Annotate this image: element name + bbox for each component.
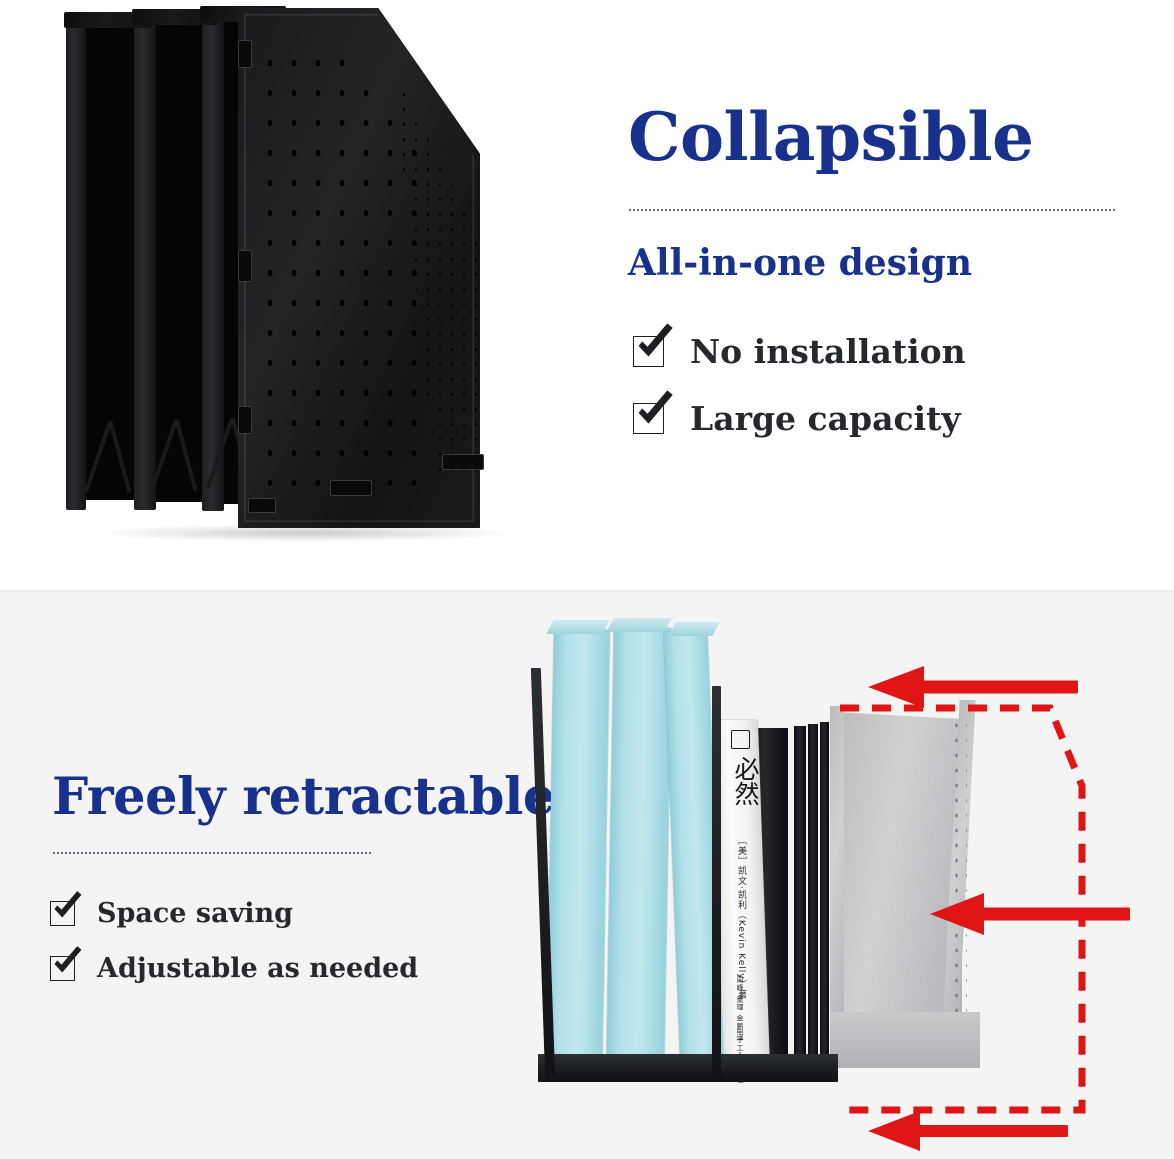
page-title-collapsible: Collapsible [628, 104, 1034, 170]
checkbox-checked-icon [50, 901, 75, 926]
feature-label: Large capacity [690, 402, 961, 435]
panel-collapsible: Collapsible All-in-one design No install… [0, 0, 1174, 592]
checkmark-glyph [633, 327, 677, 365]
hinge-latch-top [238, 40, 252, 68]
folded-panel-2 [134, 14, 156, 510]
checkmark-glyph [50, 894, 85, 924]
folded-panel-1 [66, 18, 86, 510]
feature-item-large-capacity: Large capacity [633, 402, 961, 435]
collapsed-black-magazine-file-photo [62, 2, 582, 550]
checkbox-checked-icon [633, 403, 664, 434]
book-teal-2 [606, 628, 672, 1072]
folded-divider-1 [794, 726, 806, 1074]
title-divider-bottom [52, 852, 372, 854]
book-teal-3-top [668, 622, 719, 636]
retract-arrow-middle [930, 892, 1130, 936]
hinge-latch-middle [238, 250, 252, 282]
base-clip-left [248, 498, 276, 513]
feature-label: Adjustable as needed [97, 955, 418, 982]
checkmark-glyph [50, 949, 85, 979]
hinge-latch-lower [238, 406, 252, 434]
retract-arrow-bottom [868, 1110, 1068, 1152]
feature-item-space-saving: Space saving [50, 900, 293, 927]
book-teal-1-top [546, 620, 609, 634]
folded-panel-3 [202, 11, 224, 511]
base-clip-right [442, 454, 484, 470]
book-teal-1 [546, 630, 610, 1070]
subtitle-all-in-one: All-in-one design [628, 245, 972, 281]
publisher-mark-icon [731, 730, 750, 749]
title-divider-top [628, 209, 1115, 211]
retract-arrow-top [868, 665, 1078, 709]
front-base-rail [538, 1054, 838, 1082]
book-spine-title: 必然 [733, 756, 758, 806]
folded-divider-2 [808, 724, 818, 1074]
page-title-freely-retractable: Freely retractable [52, 772, 555, 823]
checkmark-glyph [633, 394, 677, 432]
feature-item-adjustable: Adjustable as needed [50, 955, 418, 982]
checkbox-checked-icon [633, 336, 664, 367]
panel-rim [244, 14, 474, 522]
feature-label: Space saving [97, 900, 293, 927]
feature-item-no-installation: No installation [633, 335, 966, 368]
checkbox-checked-icon [50, 956, 75, 981]
base-clip-center [330, 480, 372, 496]
folded-divider-3 [820, 722, 829, 1074]
front-middle-post [712, 686, 721, 1078]
feature-label: No installation [690, 335, 966, 368]
book-teal-2-top [606, 618, 671, 632]
